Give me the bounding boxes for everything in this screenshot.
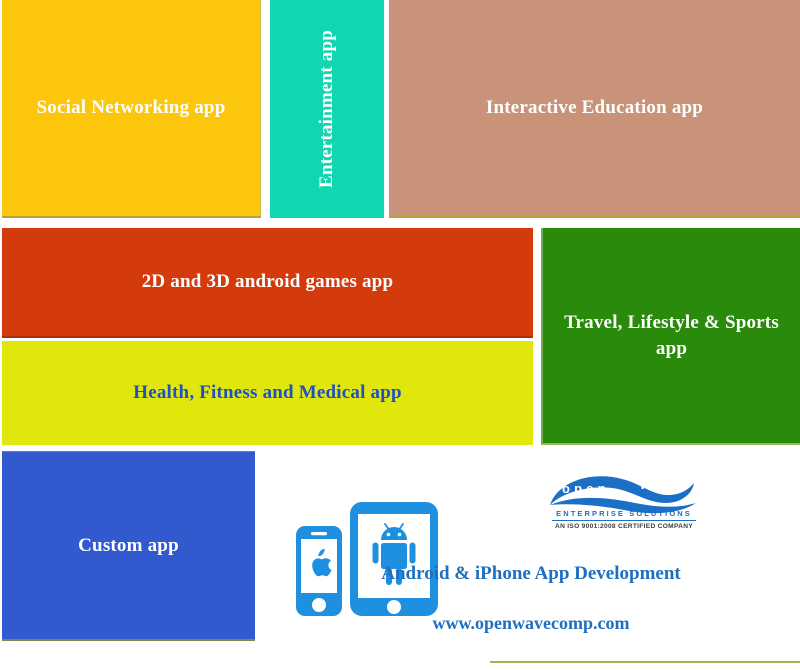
tile-label: Custom app — [68, 533, 189, 559]
tile-health-fitness-medical-app[interactable]: Health, Fitness and Medical app — [2, 341, 533, 445]
tile-android-games-app[interactable]: 2D and 3D android games app — [2, 228, 533, 338]
tile-label: 2D and 3D android games app — [132, 269, 404, 295]
poster-canvas: Social Networking app Entertainment app … — [0, 0, 800, 670]
promo-divider — [490, 661, 800, 663]
tile-label: Entertainment app — [314, 30, 340, 188]
tile-label: Social Networking app — [27, 95, 236, 121]
tile-custom-app[interactable]: Custom app — [2, 451, 255, 641]
tile-travel-lifestyle-sports-app[interactable]: Travel, Lifestyle & Sports app — [541, 228, 800, 445]
device-illustration — [292, 496, 442, 621]
svg-text:wave: wave — [639, 477, 686, 492]
openwave-logo: open wave ENTERPRISE SOLUTIONS AN ISO 90… — [544, 465, 704, 540]
tile-label: Health, Fitness and Medical app — [123, 380, 412, 406]
tile-label: Travel, Lifestyle & Sports app — [543, 310, 800, 361]
tile-social-networking-app[interactable]: Social Networking app — [2, 0, 261, 218]
logo-divider — [552, 520, 696, 521]
promo-panel: open wave ENTERPRISE SOLUTIONS AN ISO 90… — [262, 451, 800, 670]
tablet-android-icon — [350, 502, 438, 616]
tile-label: Interactive Education app — [476, 95, 713, 121]
svg-text:open: open — [562, 481, 610, 496]
tile-entertainment-app[interactable]: Entertainment app — [270, 0, 384, 218]
logo-tagline: ENTERPRISE SOLUTIONS — [546, 509, 702, 518]
logo-certification: AN ISO 9001:2008 CERTIFIED COMPANY — [546, 523, 702, 530]
promo-website-url[interactable]: www.openwavecomp.com — [262, 613, 800, 634]
promo-headline: Android & iPhone App Development — [262, 563, 800, 585]
tile-interactive-education-app[interactable]: Interactive Education app — [389, 0, 800, 218]
